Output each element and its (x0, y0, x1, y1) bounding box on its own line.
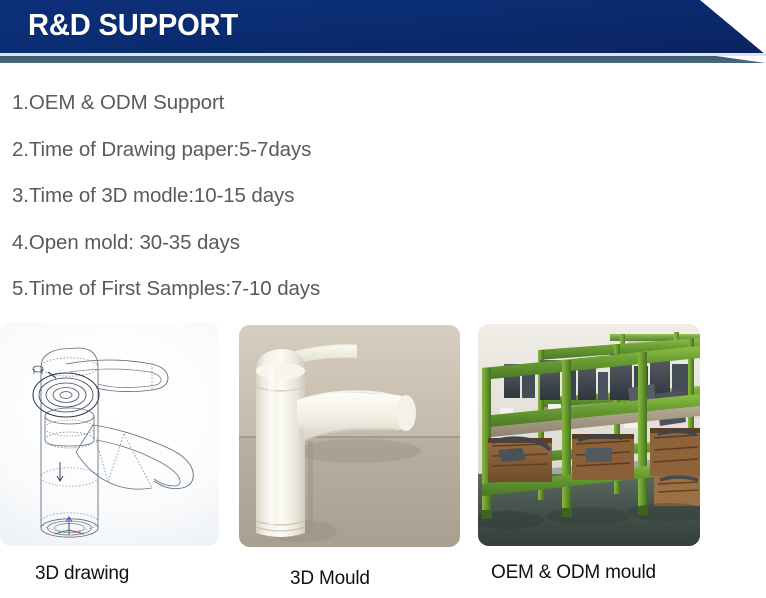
gallery-image-oem-odm-mould (478, 324, 700, 546)
warehouse-green-racks-icon (478, 324, 700, 546)
list-item: 4.Open mold: 30-35 days (12, 220, 572, 267)
rd-support-slide: R&D SUPPORT 1.OEM & ODM Support 2.Time o… (0, 0, 766, 598)
gallery-image-3d-mould (239, 325, 460, 547)
gallery-caption-3d-drawing: 3D drawing (35, 563, 129, 585)
page-title: R&D SUPPORT (28, 7, 238, 43)
list-item: 2.Time of Drawing paper:5-7days (12, 127, 572, 174)
header-substrip-fill (0, 56, 766, 63)
cad-wireframe-faucet-icon (0, 322, 219, 546)
list-item: 3.Time of 3D modle:10-15 days (12, 173, 572, 220)
capability-list: 1.OEM & ODM Support 2.Time of Drawing pa… (12, 80, 572, 313)
gallery-image-3d-drawing (0, 322, 219, 546)
gallery-caption-oem-odm-mould: OEM & ODM mould (491, 562, 656, 584)
list-item: 1.OEM & ODM Support (12, 80, 572, 127)
white-3d-printed-faucet-icon (239, 325, 460, 547)
gallery-caption-3d-mould: 3D Mould (290, 568, 370, 590)
header-substrip-divider (0, 56, 766, 63)
list-item: 5.Time of First Samples:7-10 days (12, 266, 572, 313)
